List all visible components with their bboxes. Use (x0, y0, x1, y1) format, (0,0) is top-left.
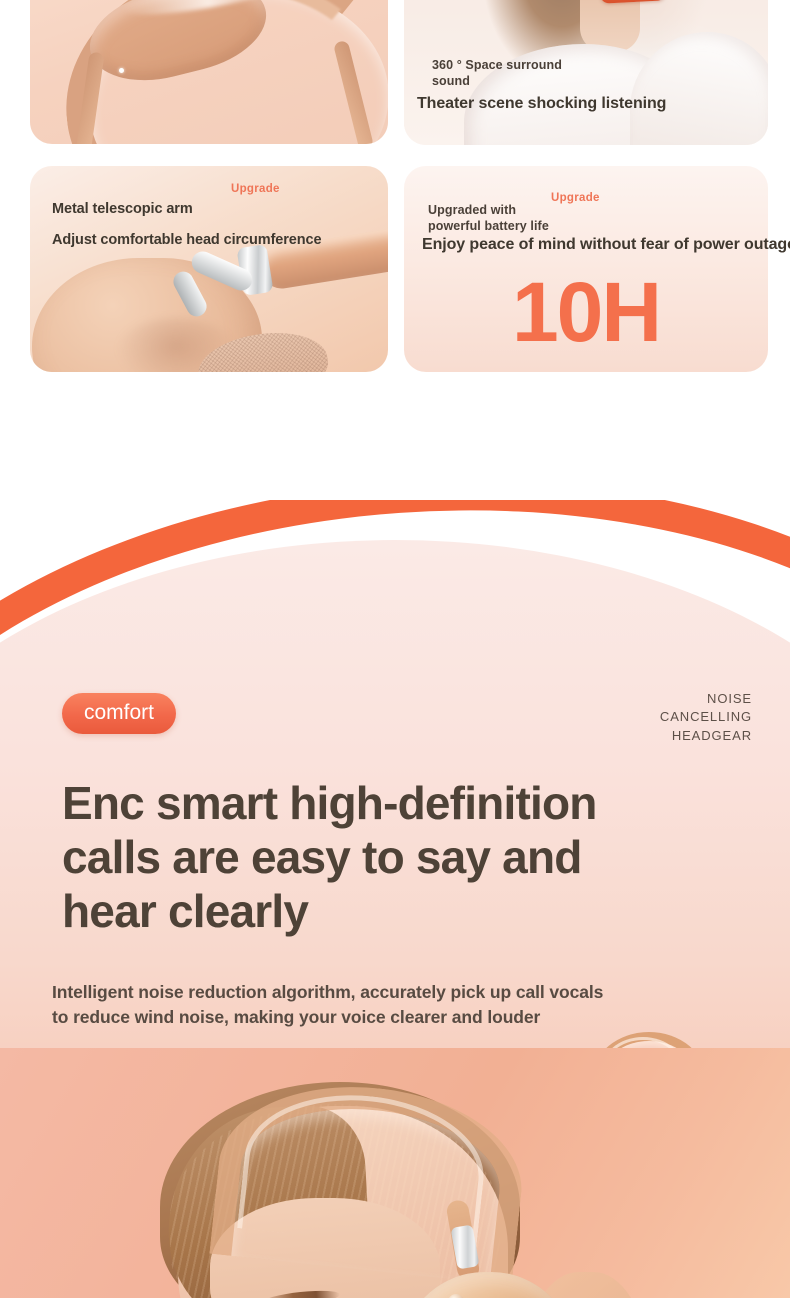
noise-cancelling-line3: HEADGEAR (660, 727, 752, 745)
battery-title: Enjoy peace of mind without fear of powe… (422, 236, 790, 254)
arm-title: Metal telescopic arm (52, 201, 193, 217)
battery-eyebrow-line2: powerful battery life (428, 219, 549, 235)
arm-upgrade-label: Upgrade (231, 183, 280, 195)
headline-line3: hear clearly (62, 885, 722, 939)
model-shoulder-right (630, 32, 768, 145)
battery-hours-value: 10H (404, 270, 768, 354)
surround-eyebrow-line1: 360 ° Space surround (432, 58, 562, 74)
product-detail-page: Upgrade 360 ° Space surround sound Theat… (0, 0, 790, 1298)
subtitle-line2: to reduce wind noise, making your voice … (52, 1005, 742, 1030)
surround-eyebrow: 360 ° Space surround sound (432, 58, 562, 89)
noise-cancelling-label: NOISE CANCELLING HEADGEAR (660, 690, 752, 745)
arm-subtitle: Adjust comfortable head circumference (52, 232, 321, 248)
subtitle-line1: Intelligent noise reduction algorithm, a… (52, 980, 742, 1005)
surround-title: Theater scene shocking listening (417, 95, 666, 113)
battery-upgrade-label: Upgrade (551, 192, 600, 204)
battery-eyebrow-line1: Upgraded with (428, 203, 549, 219)
battery-eyebrow: Upgraded with powerful battery life (428, 203, 549, 234)
card-telescopic-arm (30, 166, 388, 372)
surround-eyebrow-line2: sound (432, 74, 562, 90)
noise-cancelling-line1: NOISE (660, 690, 752, 708)
card-headband-closeup (30, 0, 388, 144)
comfort-badge: comfort (62, 693, 176, 734)
headline-line2: calls are easy to say and (62, 831, 722, 885)
page-subtitle: Intelligent noise reduction algorithm, a… (52, 980, 742, 1031)
noise-cancelling-line2: CANCELLING (660, 708, 752, 726)
headband-illustration (30, 0, 388, 144)
headline-line1: Enc smart high-definition (62, 777, 722, 831)
page-title: Enc smart high-definition calls are easy… (62, 777, 722, 938)
feature-card-grid: Upgrade 360 ° Space surround sound Theat… (0, 0, 790, 400)
headband-pin-dot (119, 68, 124, 73)
model-wearing-photo (0, 1048, 790, 1298)
